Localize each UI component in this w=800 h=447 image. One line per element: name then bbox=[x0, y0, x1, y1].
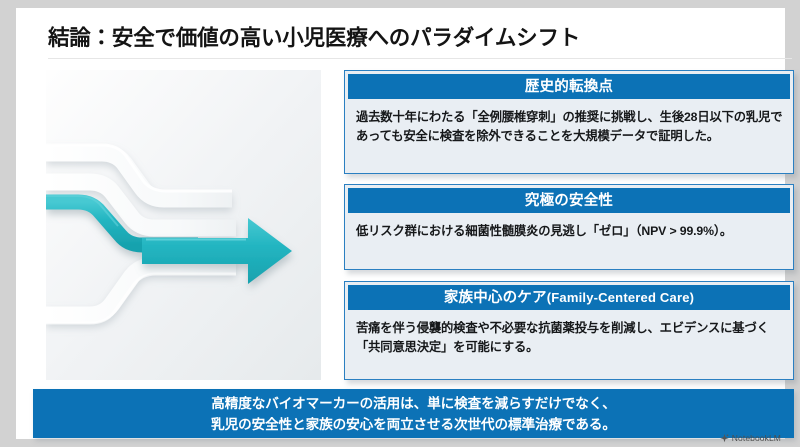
page-title-container: 結論：安全で価値の高い小児医療へのパラダイムシフト bbox=[32, 18, 792, 60]
slide-root: 結論：安全で価値の高い小児医療へのパラダイムシフト bbox=[0, 0, 800, 447]
card-body-text: 苦痛を伴う侵襲的検査や不必要な抗菌薬投与を削減し、エビデンスに基づく「共同意思決… bbox=[345, 310, 793, 363]
summary-banner-text: 高精度なバイオマーカーの活用は、単に検査を減らすだけでなく、 乳児の安全性と家族… bbox=[211, 393, 616, 435]
slide-canvas: 結論：安全で価値の高い小児医療へのパラダイムシフト bbox=[16, 8, 785, 439]
card-heading-en: (Family-Centered Care) bbox=[547, 290, 694, 305]
card-heading-text: 家族中心のケア bbox=[444, 290, 547, 306]
card-heading: 歴史的転換点 bbox=[348, 74, 790, 99]
content-card-history: 歴史的転換点 過去数十年にわたる「全例腰椎穿刺」の推奨に挑戦し、生後28日以下の… bbox=[344, 70, 794, 174]
title-divider bbox=[48, 58, 792, 59]
card-body-text: 低リスク群における細菌性髄膜炎の見逃し「ゼロ」（NPV > 99.9%）。 bbox=[345, 213, 793, 247]
card-heading-text: 歴史的転換点 bbox=[525, 79, 613, 95]
converging-arrows-illustration bbox=[46, 70, 321, 380]
notebooklm-watermark: NotebookLM bbox=[720, 433, 781, 443]
notebooklm-spark-icon bbox=[720, 434, 729, 443]
card-heading-text: 究極の安全性 bbox=[525, 193, 613, 209]
card-heading: 家族中心のケア(Family-Centered Care) bbox=[348, 285, 790, 310]
card-body-text: 過去数十年にわたる「全例腰椎穿刺」の推奨に挑戦し、生後28日以下の乳児であっても… bbox=[345, 99, 793, 152]
content-card-family-centered-care: 家族中心のケア(Family-Centered Care) 苦痛を伴う侵襲的検査… bbox=[344, 281, 794, 380]
notebooklm-watermark-label: NotebookLM bbox=[732, 433, 781, 443]
content-card-safety: 究極の安全性 低リスク群における細菌性髄膜炎の見逃し「ゼロ」（NPV > 99.… bbox=[344, 184, 794, 270]
page-title: 結論：安全で価値の高い小児医療へのパラダイムシフト bbox=[48, 22, 580, 54]
card-heading: 究極の安全性 bbox=[348, 188, 790, 213]
summary-banner: 高精度なバイオマーカーの活用は、単に検査を減らすだけでなく、 乳児の安全性と家族… bbox=[33, 389, 794, 438]
